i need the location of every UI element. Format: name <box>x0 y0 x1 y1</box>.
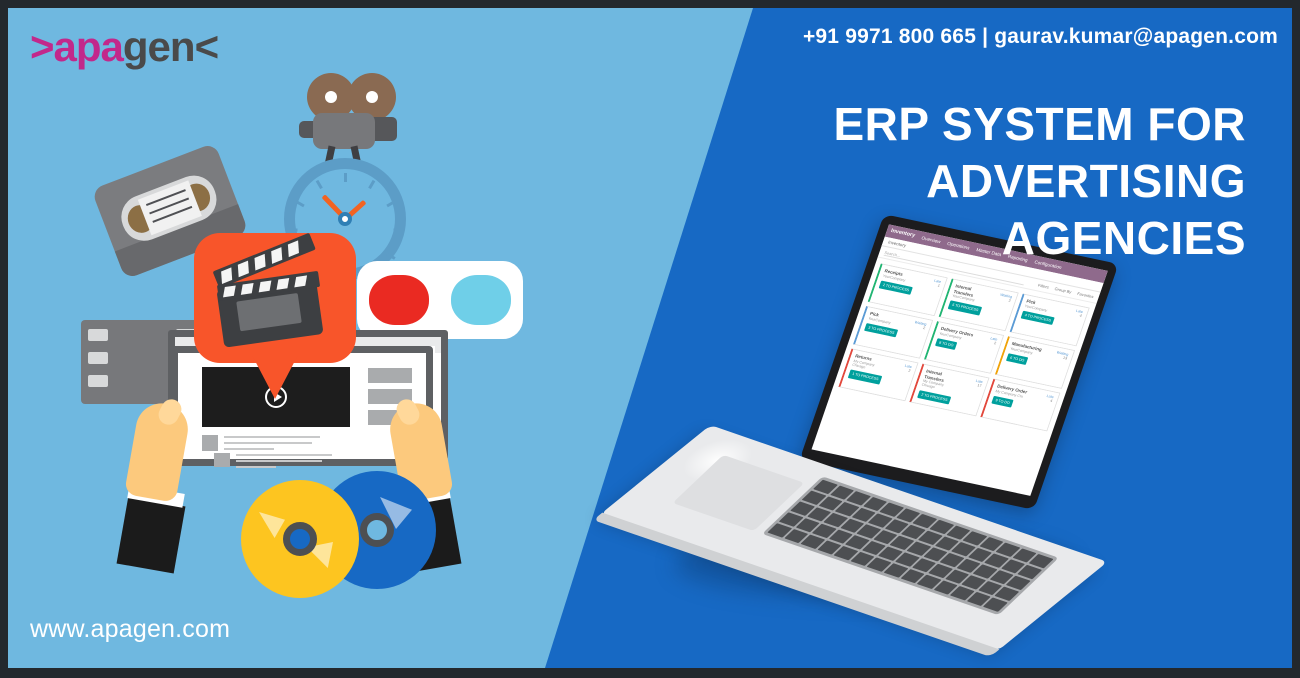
erp-filter-favorites[interactable]: Favorites <box>1077 291 1095 299</box>
kanban-stat-value: 2 <box>993 342 996 346</box>
kanban-stat-value: 1 <box>937 284 940 288</box>
kanban-card-action-button[interactable]: 6 TO DO <box>1006 353 1029 365</box>
laptop-mockup: Inventory Overview Operations Master Dat… <box>644 230 1114 620</box>
list-thumb <box>214 453 230 467</box>
erp-kanban-card[interactable]: Delivery OrderMy Company Chi9 TO DOLate4 <box>980 378 1060 431</box>
headline-line-2: ADVERTISING <box>726 153 1246 210</box>
glasses-lens-red <box>369 275 429 325</box>
erp-filter-groupby[interactable]: Group By <box>1054 286 1072 294</box>
headline-line-1: ERP SYSTEM FOR <box>726 96 1246 153</box>
kanban-stat-value: 4 <box>1079 314 1082 318</box>
marketing-banner: Inventory Overview Operations Master Dat… <box>0 0 1300 678</box>
kanban-card-action-button[interactable]: 9 TO DO <box>991 396 1014 408</box>
kanban-stat-value: 4 <box>1050 399 1053 403</box>
clock-tick <box>393 229 402 232</box>
glasses-lens-cyan <box>451 275 511 325</box>
clock-tick <box>288 229 297 232</box>
logo-apa: apa <box>54 23 123 70</box>
banner-canvas: Inventory Overview Operations Master Dat… <box>8 8 1292 668</box>
cd-shine <box>259 512 285 538</box>
kanban-stat-value: 2 <box>1008 299 1011 303</box>
kanban-card-action-button[interactable]: 8 TO DO <box>935 338 958 350</box>
speech-bubble <box>194 233 356 363</box>
text-line <box>236 454 332 456</box>
clock-tick <box>386 200 395 207</box>
clock-tick <box>295 200 304 207</box>
cd-hub <box>360 513 394 547</box>
text-line <box>224 448 274 450</box>
kanban-stat-value: 13 <box>1062 356 1067 361</box>
film-perforations-left <box>88 329 108 398</box>
erp-kanban-card[interactable]: ReturnsMy Company Chicago1 TO PROCESSLat… <box>838 348 918 401</box>
kanban-card-stats: Late4 <box>1022 391 1054 426</box>
page-title: ERP SYSTEM FOR ADVERTISING AGENCIES <box>726 96 1246 267</box>
apagen-logo[interactable]: >apagen< <box>30 26 218 68</box>
kanban-stat-value: 2 <box>908 369 911 373</box>
text-line <box>236 466 276 468</box>
clapperboard-slate <box>236 293 302 331</box>
erp-filter-filters[interactable]: Filters <box>1037 283 1049 290</box>
text-line <box>224 436 320 438</box>
clock-tick <box>344 173 347 182</box>
logo-prefix: > <box>30 23 54 70</box>
clock-tick <box>315 180 322 189</box>
text-line <box>236 460 322 462</box>
website-url[interactable]: www.apagen.com <box>30 615 230 644</box>
3d-glasses-icon <box>357 261 523 339</box>
contact-info[interactable]: +91 9971 800 665 | gaurav.kumar@apagen.c… <box>803 25 1278 49</box>
clock-tick <box>368 180 375 189</box>
headline-line-3: AGENCIES <box>726 210 1246 267</box>
clock-tick <box>386 253 395 260</box>
thumbnail-item <box>368 368 412 383</box>
camera-body <box>313 113 375 149</box>
kanban-stat-value: 2 <box>922 327 925 331</box>
kanban-stat-value: 17 <box>977 384 982 389</box>
clapperboard-icon <box>216 255 328 343</box>
hand-left <box>126 403 188 523</box>
logo-suffix: < <box>195 23 219 70</box>
clock-center-pin <box>338 212 352 226</box>
logo-gen: gen <box>123 23 195 70</box>
media-illustration <box>8 8 568 668</box>
sleeve-left <box>117 496 186 573</box>
cd-hub <box>283 522 317 556</box>
text-line <box>224 442 312 444</box>
erp-kanban-card[interactable]: Internal TransfersMy Company Chicago2 TO… <box>909 363 989 416</box>
kanban-card-stats: Waiting13 <box>1037 348 1069 383</box>
list-thumb <box>202 435 218 451</box>
cd-disc-yellow <box>241 480 359 598</box>
